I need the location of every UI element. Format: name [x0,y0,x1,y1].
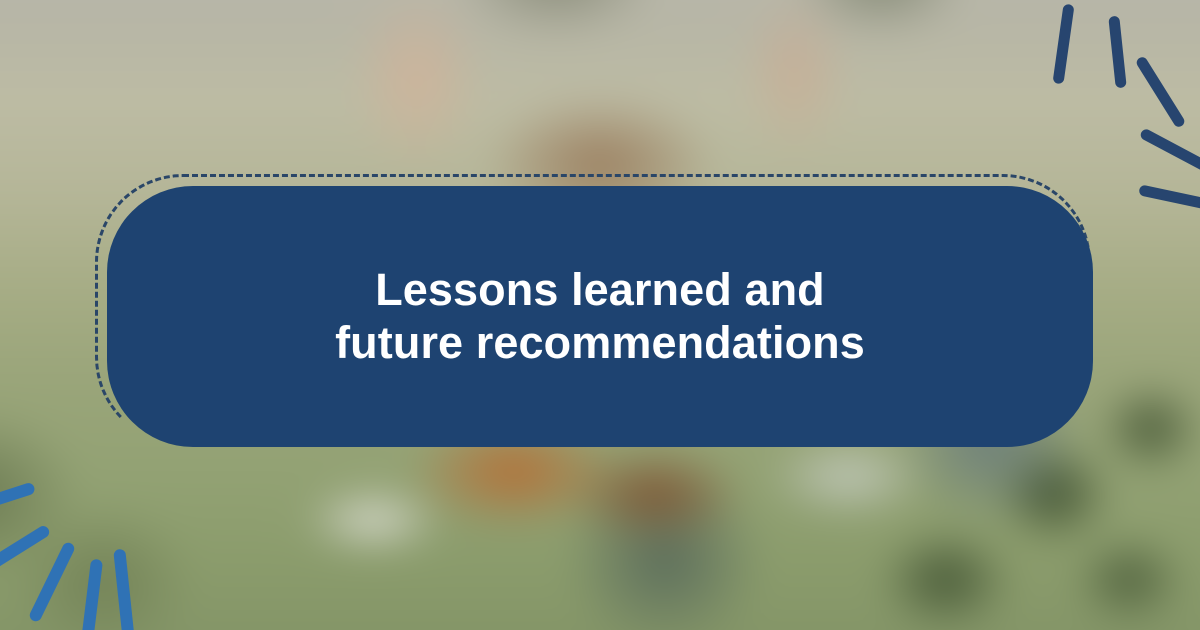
burst-top-right-icon [1030,0,1200,170]
burst-bottom-left-stroke-1-icon [0,482,36,517]
title-card: Lessons learned and future recommendatio… [107,186,1093,447]
burst-top-right-stroke-1-icon [1052,4,1074,85]
burst-top-right-stroke-2-icon [1108,16,1126,89]
burst-top-right-stroke-3-icon [1135,55,1187,129]
burst-bottom-left-icon [0,455,190,630]
burst-top-right-stroke-4-icon [1139,127,1200,176]
burst-bottom-left-stroke-2-icon [0,524,51,574]
burst-bottom-left-stroke-3-icon [28,541,76,624]
burst-bottom-left-stroke-4-icon [81,559,103,630]
page-title: Lessons learned and future recommendatio… [265,264,935,368]
burst-bottom-left-stroke-5-icon [113,549,135,630]
social-card-canvas: Lessons learned and future recommendatio… [0,0,1200,630]
